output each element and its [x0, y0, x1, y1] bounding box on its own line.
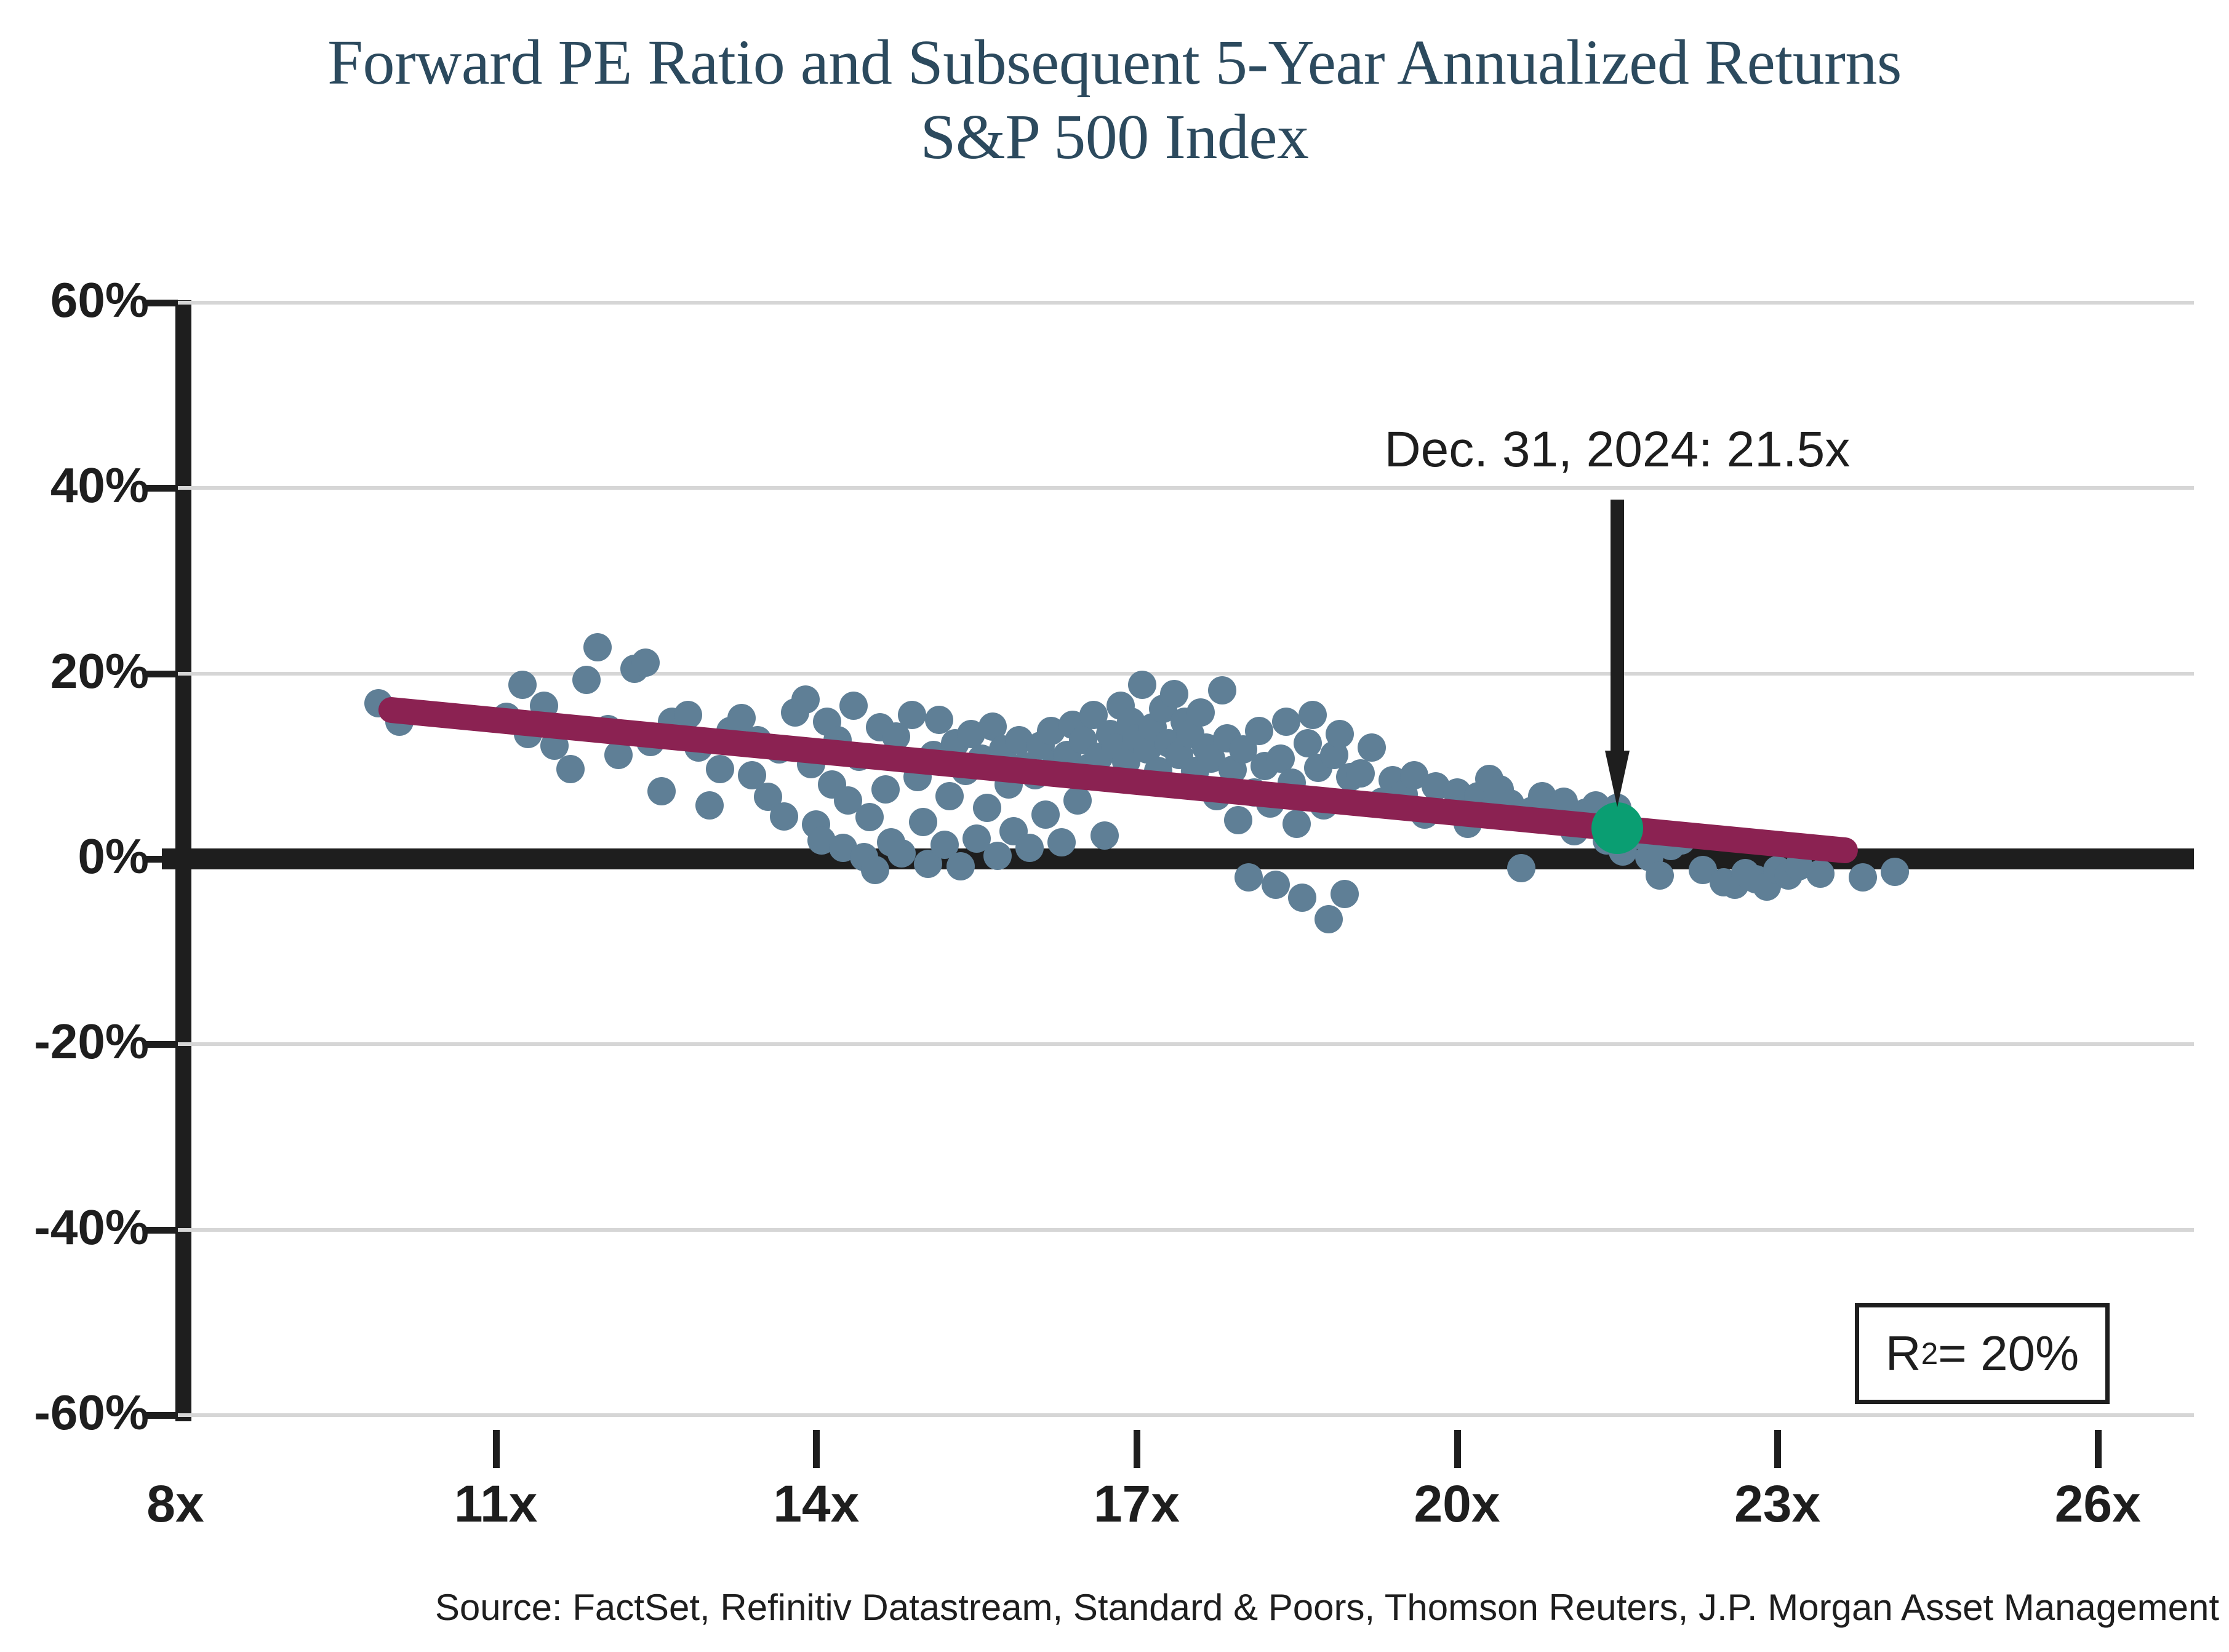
scatter-point — [1358, 733, 1386, 762]
scatter-point — [1294, 729, 1322, 757]
y-axis-label: 40% — [0, 457, 149, 514]
x-axis-label: 17x — [1094, 1474, 1180, 1534]
scatter-point — [1187, 698, 1215, 727]
scatter-point — [1063, 786, 1092, 815]
scatter-point — [1646, 861, 1674, 890]
x-axis-tick — [813, 1430, 820, 1468]
x-axis-label: 23x — [1734, 1474, 1820, 1534]
y-axis-label: 20% — [0, 643, 149, 700]
down-arrow-icon — [1605, 500, 1630, 807]
x-axis-tick — [493, 1430, 500, 1468]
y-axis-label: 60% — [0, 272, 149, 329]
x-axis-tick — [2095, 1430, 2102, 1468]
scatter-point — [946, 852, 975, 880]
r-squared-badge: R2 = 20% — [1855, 1303, 2110, 1404]
scatter-point — [1283, 810, 1311, 838]
scatter-point — [1347, 759, 1375, 788]
scatter-point — [861, 856, 889, 884]
scatter-point — [706, 755, 734, 783]
scatter-point — [1208, 676, 1236, 704]
scatter-point — [1262, 871, 1290, 899]
scatter-point — [855, 803, 884, 831]
scatter-point — [1235, 863, 1263, 892]
scatter-point — [647, 777, 676, 805]
y-axis-label: -40% — [0, 1199, 149, 1256]
x-axis-tick — [1774, 1430, 1781, 1468]
scatter-point — [770, 802, 798, 831]
title-line-2: S&P 500 Index — [0, 100, 2229, 175]
y-axis-label: -20% — [0, 1013, 149, 1070]
scatter-point — [871, 775, 900, 804]
scatter-point — [508, 671, 537, 699]
scatter-point — [1245, 717, 1273, 745]
scatter-point — [556, 755, 585, 783]
page-title: Forward PE Ratio and Subsequent 5-Year A… — [0, 26, 2229, 174]
gridline-y — [175, 1228, 2194, 1232]
gridline-y — [175, 1042, 2194, 1046]
scatter-point — [1224, 806, 1252, 834]
scatter-point — [983, 842, 1012, 870]
r2-exponent: 2 — [1921, 1336, 1939, 1371]
scatter-point — [839, 692, 868, 720]
x-axis-label: 26x — [2055, 1474, 2141, 1534]
scatter-point — [631, 648, 660, 677]
title-line-1: Forward PE Ratio and Subsequent 5-Year A… — [0, 26, 2229, 100]
scatter-point — [1331, 880, 1359, 908]
scatter-point — [1881, 858, 1909, 886]
scatter-point — [1090, 821, 1119, 850]
highlight-point-dec-2024[interactable] — [1591, 802, 1643, 854]
highlight-annotation-label: Dec. 31, 2024: 21.5x — [1384, 421, 1850, 479]
gridline-y — [175, 672, 2194, 676]
scatter-point — [1160, 680, 1188, 708]
scatter-point — [1047, 828, 1076, 856]
x-axis-tick — [1134, 1430, 1140, 1468]
scatter-point — [1507, 854, 1535, 882]
scatter-point — [1031, 800, 1060, 829]
r2-prefix: R — [1886, 1325, 1921, 1382]
r2-value: = 20% — [1938, 1325, 2079, 1382]
scatter-point — [909, 808, 937, 836]
chart-container: Forward PE Ratio and Subsequent 5-Year A… — [0, 0, 2229, 1652]
scatter-point — [1326, 720, 1354, 748]
scatter-point — [1806, 860, 1835, 888]
scatter-point — [1288, 884, 1316, 912]
gridline-y — [175, 486, 2194, 490]
scatter-point — [695, 791, 724, 820]
gridline-y — [175, 301, 2194, 305]
x-axis-label: 14x — [773, 1474, 859, 1534]
x-axis-tick — [1454, 1430, 1461, 1468]
x-axis-label: 20x — [1414, 1474, 1500, 1534]
scatter-point — [1128, 671, 1156, 699]
gridline-y — [175, 1413, 2194, 1417]
scatter-point — [1849, 863, 1877, 892]
scatter-point — [1272, 708, 1300, 736]
y-axis-label: 0% — [0, 828, 149, 885]
source-note: Source: FactSet, Refinitiv Datastream, S… — [435, 1586, 2219, 1629]
y-axis-label: -60% — [0, 1384, 149, 1441]
scatter-point — [1315, 905, 1343, 933]
scatter-point — [1299, 701, 1327, 729]
scatter-point — [1015, 834, 1044, 862]
plot-area — [175, 303, 2194, 1415]
scatter-point — [791, 685, 820, 714]
x-axis-label: 8x — [146, 1474, 204, 1534]
scatter-point — [898, 701, 926, 729]
scatter-point — [935, 782, 964, 810]
scatter-point — [572, 666, 601, 694]
x-axis-label: 11x — [454, 1474, 538, 1534]
scatter-point — [887, 839, 916, 868]
scatter-point — [973, 794, 1001, 822]
scatter-point — [583, 633, 612, 661]
